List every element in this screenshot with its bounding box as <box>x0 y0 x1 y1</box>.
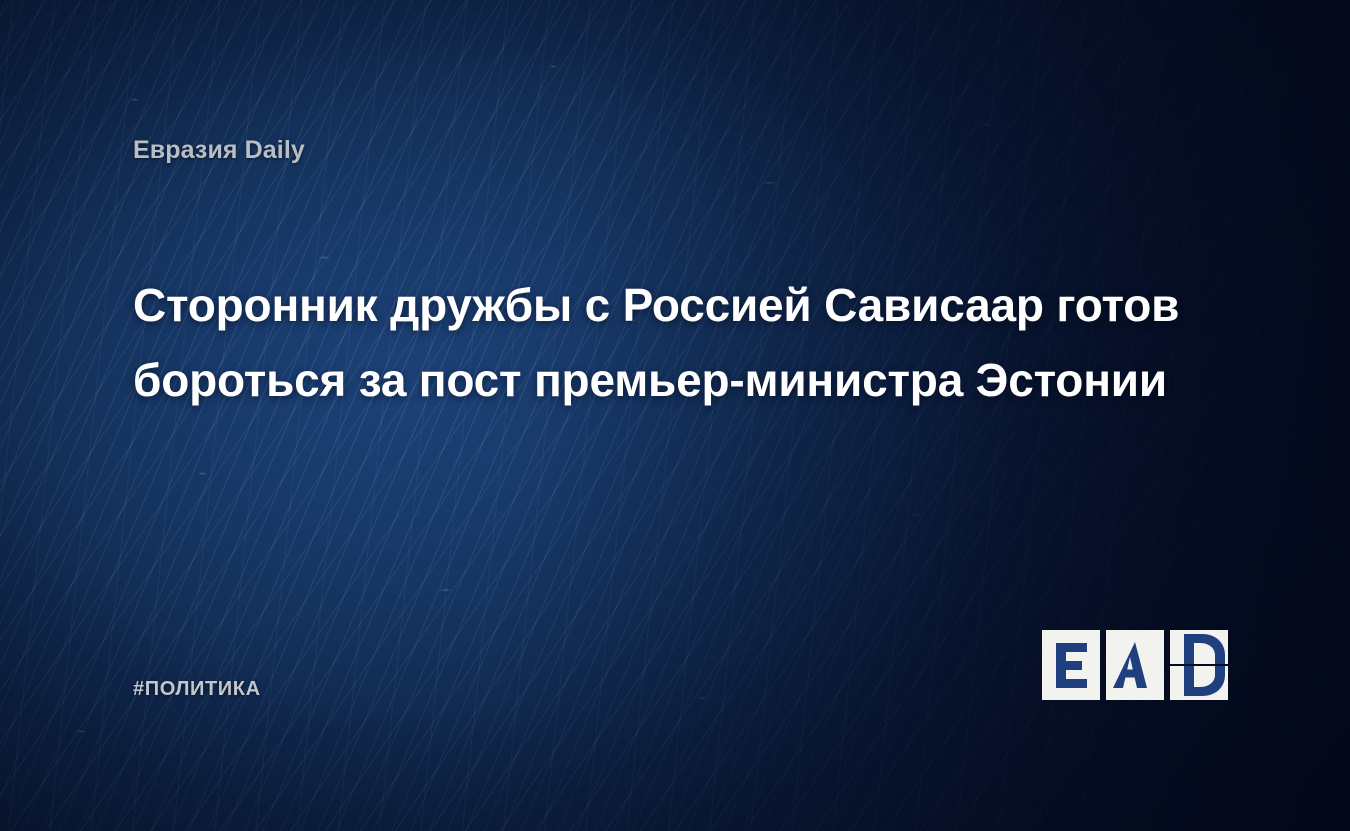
news-card: Евразия Daily Сторонник дружбы с Россией… <box>0 0 1350 831</box>
headline: Сторонник дружбы с Россией Сависаар гото… <box>133 268 1223 418</box>
eadaily-logo-icon <box>1042 630 1228 700</box>
card-content: Евразия Daily Сторонник дружбы с Россией… <box>0 0 1350 831</box>
eadaily-logo[interactable] <box>1042 630 1228 700</box>
category-tag[interactable]: #ПОЛИТИКА <box>133 678 261 701</box>
brand-name: Евразия Daily <box>133 136 305 165</box>
